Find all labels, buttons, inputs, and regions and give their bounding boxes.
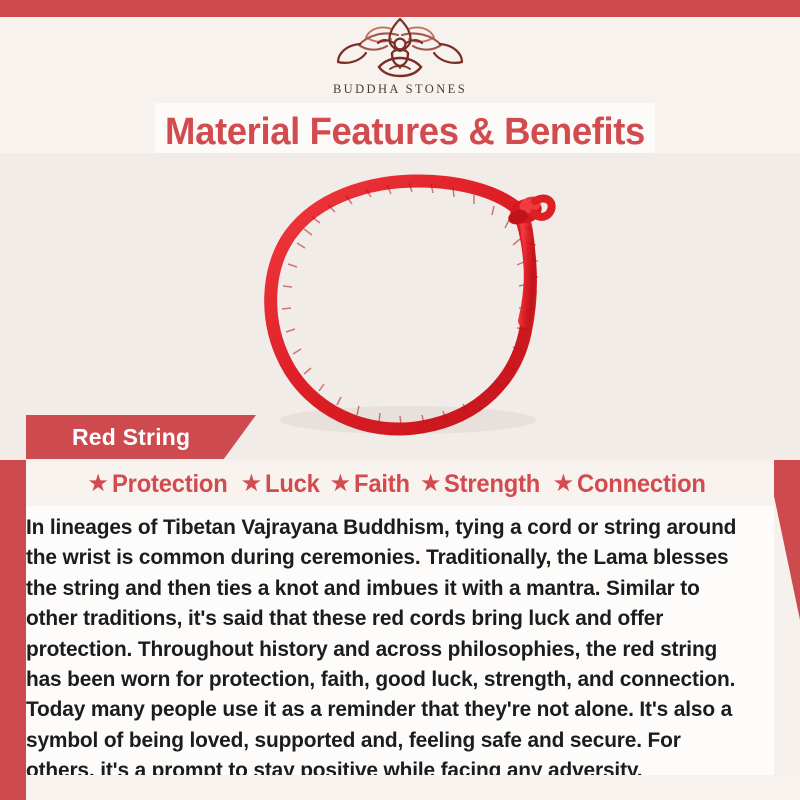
infographic-page: BUDDHA STONES Material Features & Benefi… [0,0,800,800]
benefit-label: Luck [265,470,320,499]
bottom-strip [26,775,800,800]
header: BUDDHA STONES Material Features & Benefi… [0,17,800,170]
description-panel: In lineages of Tibetan Vajrayana Buddhis… [26,506,774,775]
benefit-strength: ★ Strength [420,470,546,499]
benefit-faith: ★ Faith [330,470,413,499]
description-text: In lineages of Tibetan Vajrayana Buddhis… [26,513,749,787]
benefit-label: Connection [577,470,706,499]
benefit-protection: ★ Protection [87,470,233,499]
star-icon: ★ [553,472,575,496]
star-icon: ★ [87,472,109,496]
brand-logo: BUDDHA STONES [0,17,800,105]
top-red-band [0,0,800,17]
benefit-label: Protection [112,470,228,499]
benefits-row: ★ Protection ★ Luck ★ Faith ★ Strength ★… [26,463,774,506]
brand-name: BUDDHA STONES [333,82,467,97]
benefit-label: Faith [354,470,410,499]
star-icon: ★ [420,472,442,496]
red-string-ribbon-label: Red String [72,415,190,459]
star-icon: ★ [241,472,263,496]
lotus-meditation-icon [332,17,468,81]
benefit-luck: ★ Luck [241,470,323,499]
benefit-connection: ★ Connection [553,470,713,499]
benefit-label: Strength [444,470,540,499]
star-icon: ★ [330,472,352,496]
product-photo [0,153,800,460]
